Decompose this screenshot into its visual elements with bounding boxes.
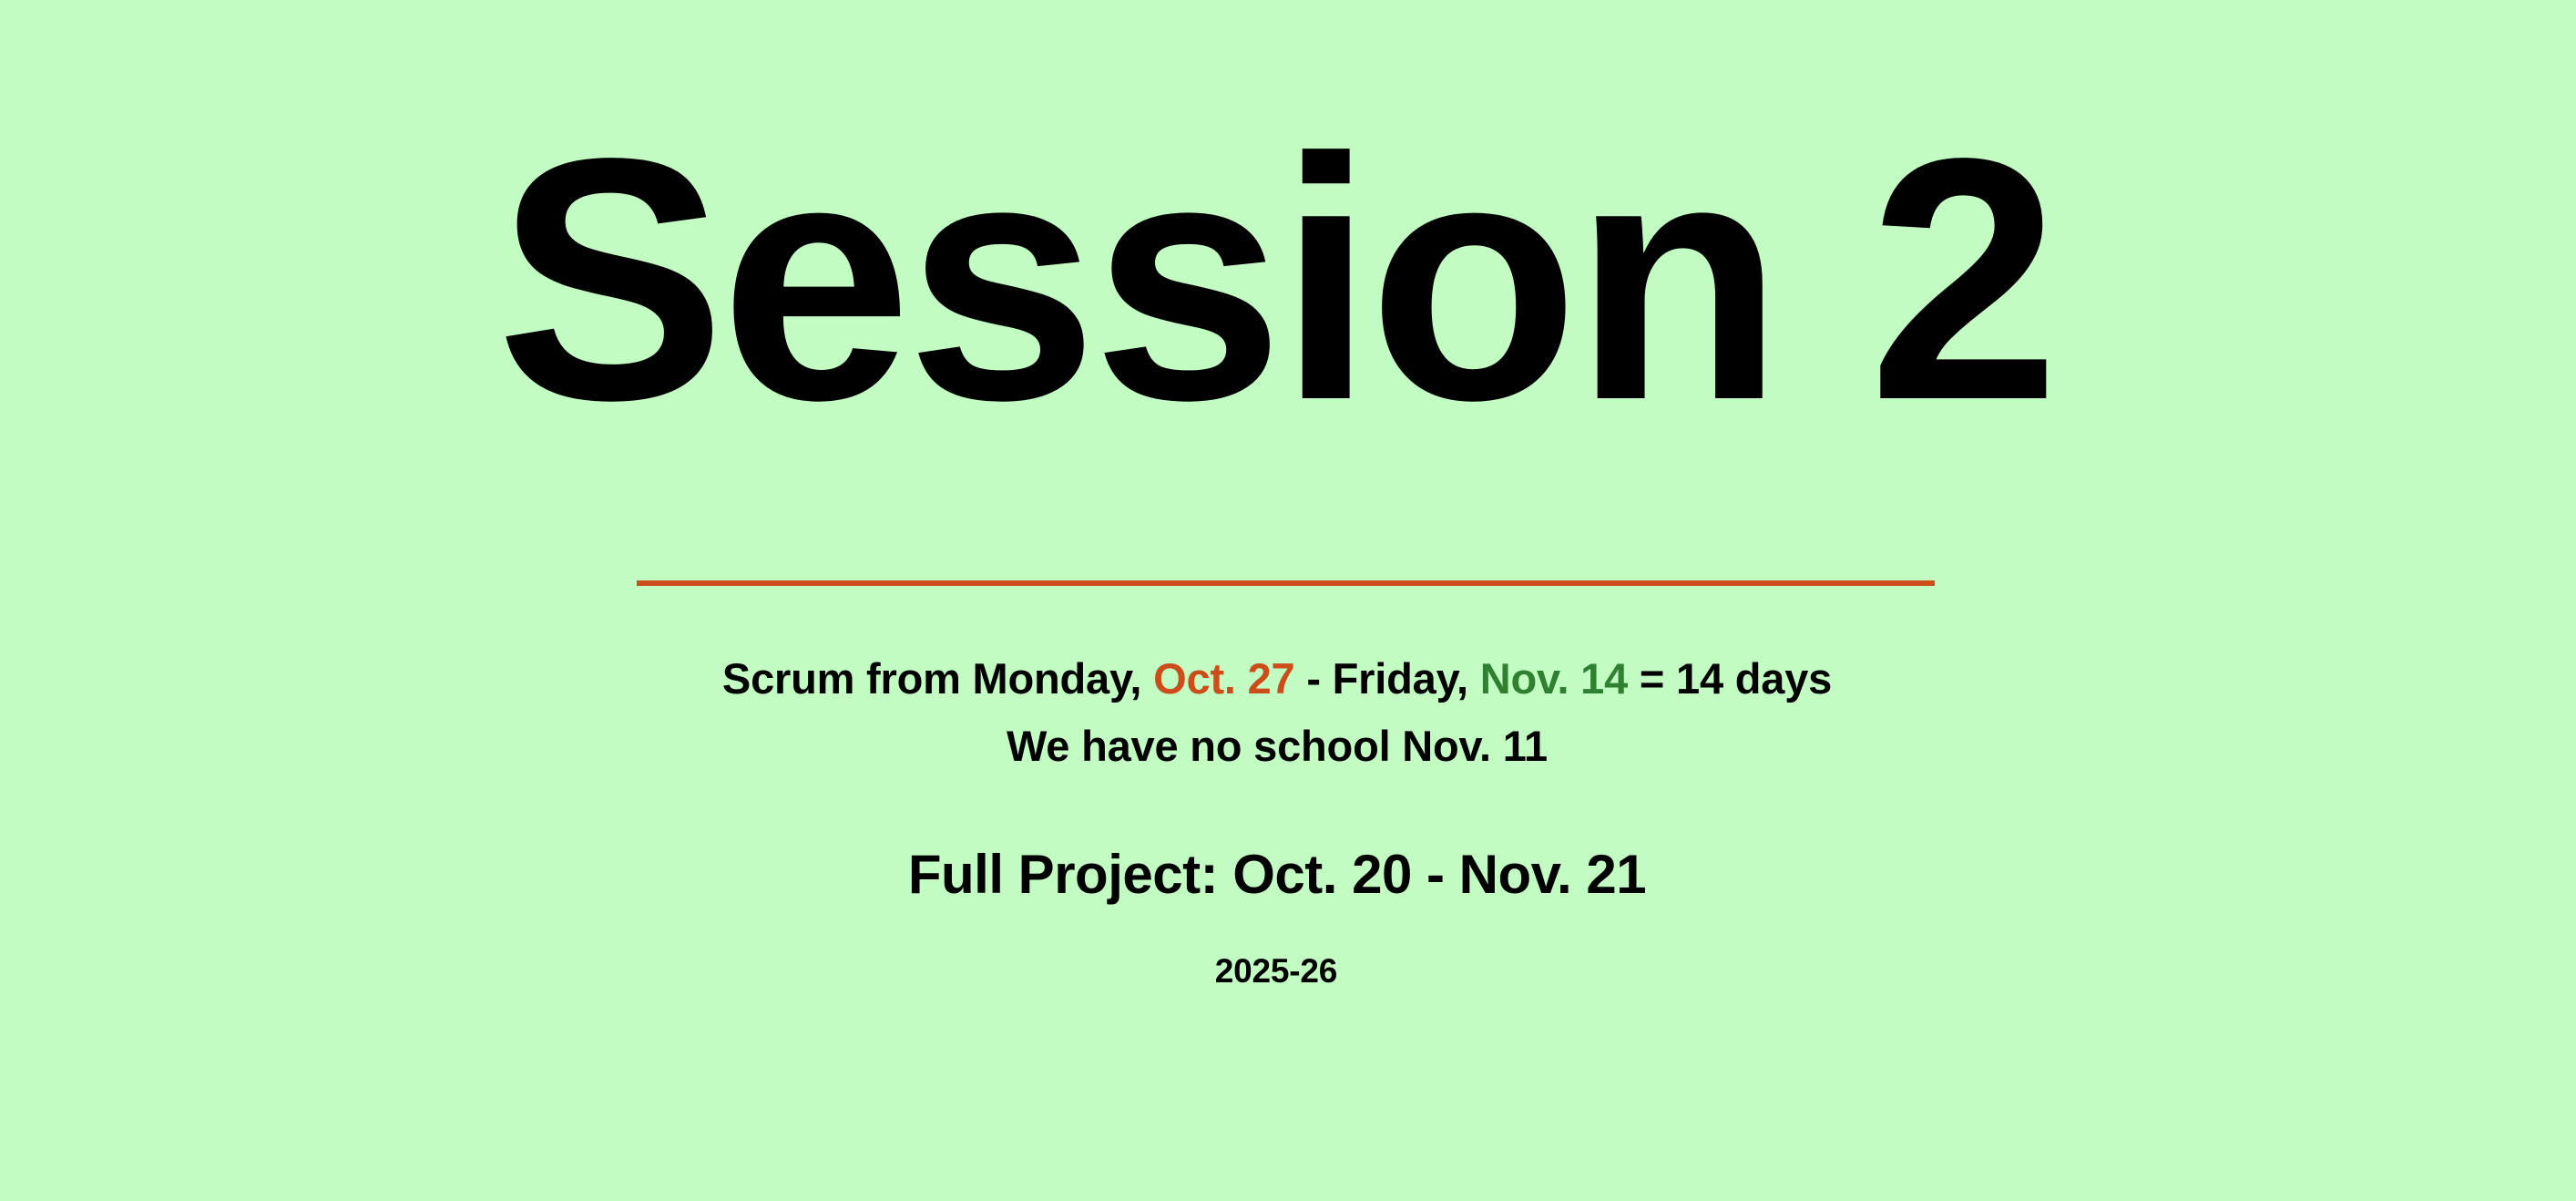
presentation-slide: Session 2 Scrum from Monday, Oct. 27 - F… <box>0 0 2576 1201</box>
page-title: Session 2 <box>496 108 2055 452</box>
title-block: Session 2 <box>0 108 2576 452</box>
horizontal-rule-divider <box>637 580 1935 586</box>
full-project-dates: Full Project: Oct. 20 - Nov. 21 <box>0 840 2565 909</box>
body-text-block: Scrum from Monday, Oct. 27 - Friday, Nov… <box>0 645 2576 993</box>
scrum-schedule-line: Scrum from Monday, Oct. 27 - Friday, Nov… <box>0 645 2565 713</box>
scrum-duration: = 14 days <box>1628 654 1832 703</box>
scrum-end-date: Nov. 14 <box>1480 654 1628 703</box>
scrum-line-prefix: Scrum from Monday, <box>722 654 1153 703</box>
scrum-line-middle: - Friday, <box>1295 654 1480 703</box>
divider-container <box>0 580 2576 597</box>
no-school-note: We have no school Nov. 11 <box>0 713 2565 780</box>
school-year-label: 2025-26 <box>0 950 2564 993</box>
scrum-start-date: Oct. 27 <box>1153 654 1294 703</box>
